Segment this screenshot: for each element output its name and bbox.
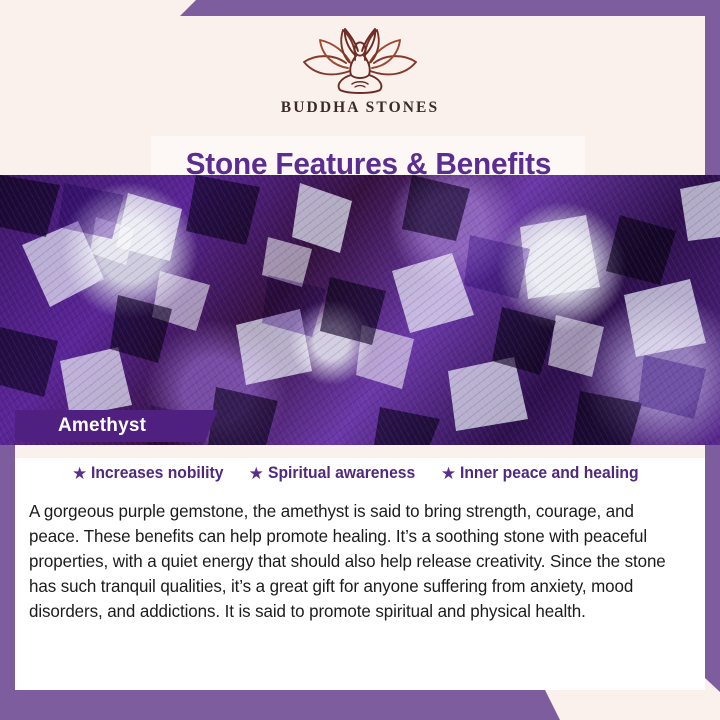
feature-label: Spiritual awareness [268, 464, 415, 483]
stone-description: A gorgeous purple gemstone, the amethyst… [29, 499, 666, 624]
stone-details-card: ★ Increases nobility ★ Spiritual awarene… [15, 445, 705, 690]
hero-image-texture [0, 175, 720, 445]
feature-label: Increases nobility [91, 464, 223, 483]
product-info-card: BUDDHA STONES Stone Features & Benefits [0, 0, 720, 720]
lotus-meditation-icon [294, 24, 426, 96]
star-icon: ★ [72, 465, 87, 482]
stone-name-badge: Amethyst [15, 410, 218, 442]
card-top-tint [15, 445, 705, 458]
star-icon: ★ [441, 465, 456, 482]
feature-item-increases-nobility: ★ Increases nobility [72, 464, 231, 483]
feature-label: Inner peace and healing [460, 464, 639, 483]
stone-name: Amethyst [15, 415, 146, 437]
stone-hero-image [0, 175, 720, 445]
frame-accent-left [0, 444, 15, 720]
feature-item-spiritual-awareness: ★ Spiritual awareness [249, 464, 423, 483]
star-icon: ★ [249, 465, 264, 482]
brand-name: BUDDHA STONES [281, 99, 439, 117]
brand-logo: BUDDHA STONES [15, 24, 705, 117]
header: BUDDHA STONES Stone Features & Benefits [15, 16, 705, 175]
feature-list: ★ Increases nobility ★ Spiritual awarene… [15, 464, 705, 483]
feature-item-inner-peace-and-healing: ★ Inner peace and healing [441, 464, 648, 483]
frame-accent-bottom [0, 690, 560, 720]
frame-accent-top [0, 0, 720, 16]
